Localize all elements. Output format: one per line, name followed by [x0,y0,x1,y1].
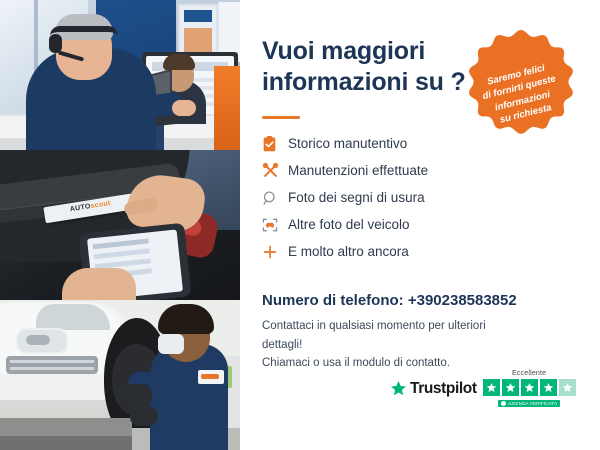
feature-label: Foto dei segni di usura [288,190,425,205]
feature-item-service-history: Storico manutentivo [262,130,512,157]
car-headlight [16,328,68,354]
trustpilot-rating[interactable]: Trustpilot Eccellente [390,370,576,407]
trustpilot-wordmark: Trustpilot [410,380,477,398]
on-request-badge: Saremo felici di fornirti queste informa… [462,28,580,146]
page-title: Vuoi maggiori informazioni su ? [262,36,492,97]
agent-hand [172,100,196,116]
feature-item-maintenance-done: Manutenzioni effettuate [262,157,512,184]
call-center-agents-photo [0,0,240,150]
mechanic-wheel-photo [0,300,240,450]
car-grille [6,356,98,374]
trustpilot-stars [483,379,576,396]
contact-instructions: Contattaci in qualsiasi momento per ulte… [262,317,522,373]
vehicle-inspection-photo: AUTOscout [0,150,240,300]
magnifier-icon [262,190,288,206]
contact-line-1: Contattaci in qualsiasi momento per ulte… [262,317,522,354]
feature-list: Storico manutentivo Manutenzioni effettu… [262,130,512,265]
car-lift-platform [0,418,132,438]
promo-card: AUTOscout [0,0,600,450]
photo-column: AUTOscout [0,0,240,450]
agent-three-hair [163,54,195,70]
mechanic-glove-lower [130,406,158,426]
trustpilot-score-block: Eccellente [483,370,576,407]
car-frame-icon [262,217,288,233]
feature-label: Manutenzioni effettuate [288,163,428,178]
feature-item-more: E molto altro ancora [262,238,512,265]
verified-check-icon [501,401,506,406]
verified-label: AZIENDA VERIFICATA [508,401,557,406]
plus-icon [262,244,288,260]
page-title-line-2: informazioni su ? [262,67,492,98]
title-underline-divider [262,116,300,119]
mechanic-glove-upper [122,384,152,406]
car-lift-base [0,436,132,450]
trustpilot-star-icon [390,380,407,397]
verified-company-badge: AZIENDA VERIFICATA [498,400,560,407]
headset-band [50,26,118,36]
feature-label: Storico manutentivo [288,136,407,151]
crossed-tools-icon [262,162,288,179]
phone-number-line[interactable]: Numero di telefono: +390238583852 [262,292,517,309]
car-windshield [36,304,110,330]
mechanic-face-mask [158,334,184,354]
technician-hand-lower [62,268,136,300]
feature-label: Altre foto del veicolo [288,217,410,232]
star-filled-4 [540,379,557,396]
trustpilot-logo: Trustpilot [390,380,477,398]
feature-item-vehicle-photos: Altre foto del veicolo [262,211,512,238]
page-title-line-1: Vuoi maggiori [262,36,492,67]
feature-label: E molto altro ancora [288,244,409,259]
uniform-logo [198,370,224,384]
phone-number[interactable]: +390238583852 [408,292,517,309]
feature-item-wear-photos: Foto dei segni di usura [262,184,512,211]
star-partial-5 [559,379,576,396]
trustpilot-rating-label: Eccellente [512,370,546,377]
star-filled-1 [483,379,500,396]
phone-label: Numero di telefono: [262,292,404,309]
clipboard-check-icon [262,136,288,152]
orange-partition [214,66,240,150]
headset-icon [462,28,482,46]
star-filled-2 [502,379,519,396]
mechanic-hair [158,304,214,334]
content-panel: Vuoi maggiori informazioni su ? Saremo f… [240,0,600,450]
star-filled-3 [521,379,538,396]
